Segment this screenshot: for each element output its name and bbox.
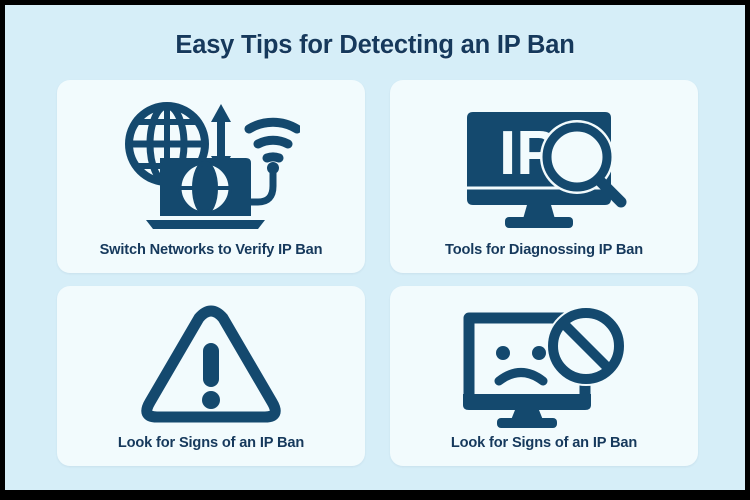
sad-monitor-ban-icon — [406, 298, 682, 433]
page-title: Easy Tips for Detecting an IP Ban — [5, 31, 745, 60]
warning-triangle-icon — [73, 298, 349, 433]
tip-card-signs-warning[interactable]: Look for Signs of an IP Ban — [57, 286, 365, 466]
wifi-signal-icon — [249, 122, 297, 174]
infographic-canvas: Easy Tips for Detecting an IP Ban — [5, 5, 745, 490]
laptop-with-globe-icon — [146, 158, 265, 229]
monitor-ip-magnifier-icon: IP — [406, 92, 682, 240]
tip-card-signs-blocked[interactable]: Look for Signs of an IP Ban — [390, 286, 698, 466]
sad-face-icon — [496, 346, 546, 381]
tip-card-label: Tools for Diagnossing IP Ban — [445, 240, 643, 263]
tip-card-label: Look for Signs of an IP Ban — [118, 433, 304, 456]
tip-card-switch-networks[interactable]: Switch Networks to Verify IP Ban — [57, 80, 365, 273]
tip-card-diagnostic-tools[interactable]: IP Tools for Diagnossing IP Ban — [390, 80, 698, 273]
ban-circle-icon — [546, 306, 626, 386]
tip-card-label: Look for Signs of an IP Ban — [451, 433, 637, 456]
globe-wifi-laptop-icon — [73, 92, 349, 240]
tips-card-grid: Switch Networks to Verify IP Ban IP — [57, 80, 703, 466]
tip-card-label: Switch Networks to Verify IP Ban — [100, 240, 323, 263]
